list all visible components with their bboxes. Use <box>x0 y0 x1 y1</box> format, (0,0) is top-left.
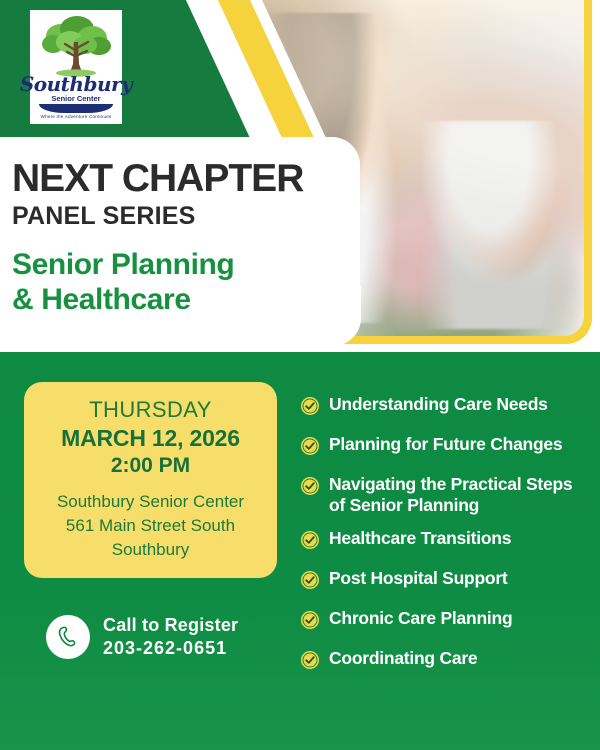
event-city: Southbury <box>24 538 277 562</box>
list-item: Post Hospital Support <box>300 568 592 595</box>
event-address: 561 Main Street South <box>24 514 277 538</box>
list-item: Understanding Care Needs <box>300 394 592 421</box>
logo-subtitle: Senior Center <box>51 95 100 103</box>
list-item: Chronic Care Planning <box>300 608 592 635</box>
check-circle-icon <box>300 650 320 675</box>
list-item: Navigating the Practical Steps of Senior… <box>300 474 592 515</box>
call-to-register[interactable]: Call to Register 203-262-0651 <box>46 614 238 661</box>
event-location: Southbury Senior Center 561 Main Street … <box>24 490 277 562</box>
topic-label: Navigating the Practical Steps of Senior… <box>329 474 592 515</box>
topic-label: Understanding Care Needs <box>329 394 548 415</box>
event-day: THURSDAY <box>24 396 277 424</box>
topics-list: Understanding Care Needs Planning for Fu… <box>300 394 592 688</box>
check-circle-icon <box>300 570 320 595</box>
brand-logo: Southbury Senior Center Where the Advent… <box>28 8 124 126</box>
flyer-poster: Southbury Senior Center Where the Advent… <box>0 0 600 750</box>
headline-topic-line2: & Healthcare <box>12 282 360 317</box>
headline-card: NEXT CHAPTER PANEL SERIES Senior Plannin… <box>0 137 360 345</box>
headline-topic-line1: Senior Planning <box>12 247 360 282</box>
event-time: 2:00 PM <box>24 453 277 479</box>
topic-label: Planning for Future Changes <box>329 434 562 455</box>
check-circle-icon <box>300 396 320 421</box>
list-item: Healthcare Transitions <box>300 528 592 555</box>
cta-label: Call to Register <box>103 614 238 637</box>
list-item: Coordinating Care <box>300 648 592 675</box>
event-info-box: THURSDAY MARCH 12, 2026 2:00 PM Southbur… <box>24 382 277 578</box>
check-circle-icon <box>300 476 320 501</box>
topic-label: Post Hospital Support <box>329 568 508 589</box>
logo-wordmark: Southbury <box>20 74 132 94</box>
senior-figure <box>408 121 584 329</box>
event-date: MARCH 12, 2026 <box>24 424 277 454</box>
topic-label: Chronic Care Planning <box>329 608 512 629</box>
headline-topic: Senior Planning & Healthcare <box>12 247 360 318</box>
check-circle-icon <box>300 436 320 461</box>
topic-label: Coordinating Care <box>329 648 477 669</box>
page-subtitle: PANEL SERIES <box>12 201 360 231</box>
event-venue: Southbury Senior Center <box>24 490 277 514</box>
page-title: NEXT CHAPTER <box>12 159 360 199</box>
topic-label: Healthcare Transitions <box>329 528 511 549</box>
phone-icon <box>46 615 90 659</box>
cta-phone[interactable]: 203-262-0651 <box>103 637 238 660</box>
check-circle-icon <box>300 610 320 635</box>
details-section: THURSDAY MARCH 12, 2026 2:00 PM Southbur… <box>0 352 600 750</box>
logo-swoosh <box>39 104 113 113</box>
logo-tagline: Where the Adventure Continues <box>41 115 112 120</box>
tree-icon <box>37 14 115 78</box>
cta-text: Call to Register 203-262-0651 <box>103 614 238 661</box>
list-item: Planning for Future Changes <box>300 434 592 461</box>
check-circle-icon <box>300 530 320 555</box>
